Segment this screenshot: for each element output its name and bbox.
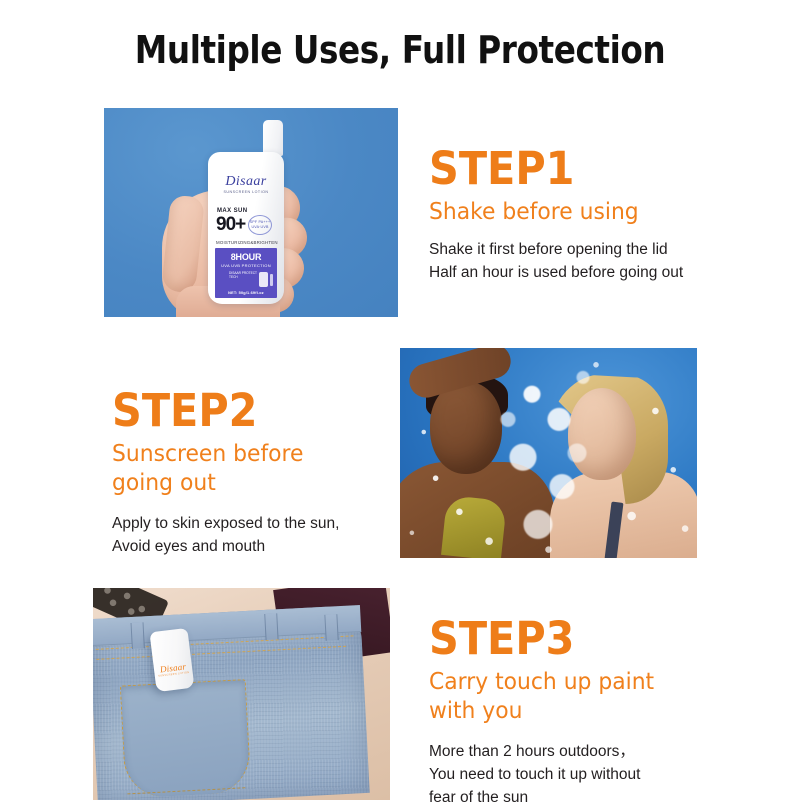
step2-subtitle: Sunscreen before going out xyxy=(112,440,326,498)
step2-body-line: Avoid eyes and mouth xyxy=(112,535,402,558)
step3-heading: STEP3 xyxy=(429,614,705,663)
bottle-claim-text: MOISTURIZING&BRIGHTEN xyxy=(216,240,278,245)
step1-heading: STEP1 xyxy=(429,144,705,193)
step1-subtitle: Shake before using xyxy=(429,198,714,227)
mini-bottle-icon xyxy=(259,272,268,287)
step1-body-line: Half an hour is used before going out xyxy=(429,261,729,284)
step2-photo-water-splash xyxy=(400,348,697,558)
bottle-protection-text: UVA UVB PROTECTION xyxy=(215,263,277,268)
step3-subtitle: Carry touch up paint with you xyxy=(429,668,667,726)
jeans-belt-loop xyxy=(131,622,145,649)
bottle-brand-name: Disaar xyxy=(208,174,284,190)
spf-badge-icon: SPF PA+++ UVA·UVB xyxy=(248,215,272,235)
page-title: Multiple Uses, Full Protection xyxy=(56,27,744,73)
bottle-net-weight: NET: 50g/1.69fl.oz xyxy=(215,291,277,295)
bottle-cap xyxy=(263,120,283,156)
step1-photo-hand-holding-bottle: Disaar SUNSCREEN LOTION MAX SUN 90+ SPF … xyxy=(104,108,398,317)
jeans-back-pocket xyxy=(120,679,252,798)
bottle-purple-label-panel: 8HOUR UVA UVB PROTECTION DISAAR PROTECT … xyxy=(215,248,277,298)
step3-body-line: You need to touch it up without xyxy=(429,763,729,786)
bottle-duration: 8HOUR xyxy=(215,252,277,262)
step3-body-line: fear of the sun xyxy=(429,786,729,809)
step3-photo-jeans-pocket: Disaar SUNSCREEN LOTION xyxy=(93,588,390,800)
step3-text-block: STEP3 Carry touch up paint with you More… xyxy=(429,614,729,809)
water-droplets xyxy=(400,348,697,558)
sunscreen-bottle-in-pocket: Disaar SUNSCREEN LOTION xyxy=(149,628,194,692)
jeans-belt-loop xyxy=(324,614,338,641)
step2-body-line: Apply to skin exposed to the sun, xyxy=(112,512,402,535)
step3-body: More than 2 hours outdoors， You need to … xyxy=(429,740,729,809)
step2-heading: STEP2 xyxy=(112,386,379,435)
step1-body-line: Shake it first before opening the lid xyxy=(429,238,729,261)
step2-text-block: STEP2 Sunscreen before going out Apply t… xyxy=(112,386,402,558)
bottle-spf-value: 90+ xyxy=(216,214,245,236)
step1-text-block: STEP1 Shake before using Shake it first … xyxy=(429,144,729,284)
denim-jeans xyxy=(93,605,370,800)
bottle-brand-subtitle: SUNSCREEN LOTION xyxy=(208,190,284,194)
step3-body-line: More than 2 hours outdoors， xyxy=(429,740,729,763)
step1-body: Shake it first before opening the lid Ha… xyxy=(429,238,729,284)
step2-body: Apply to skin exposed to the sun, Avoid … xyxy=(112,512,402,558)
jeans-belt-loop xyxy=(264,613,278,640)
sunscreen-bottle: Disaar SUNSCREEN LOTION MAX SUN 90+ SPF … xyxy=(208,152,284,304)
